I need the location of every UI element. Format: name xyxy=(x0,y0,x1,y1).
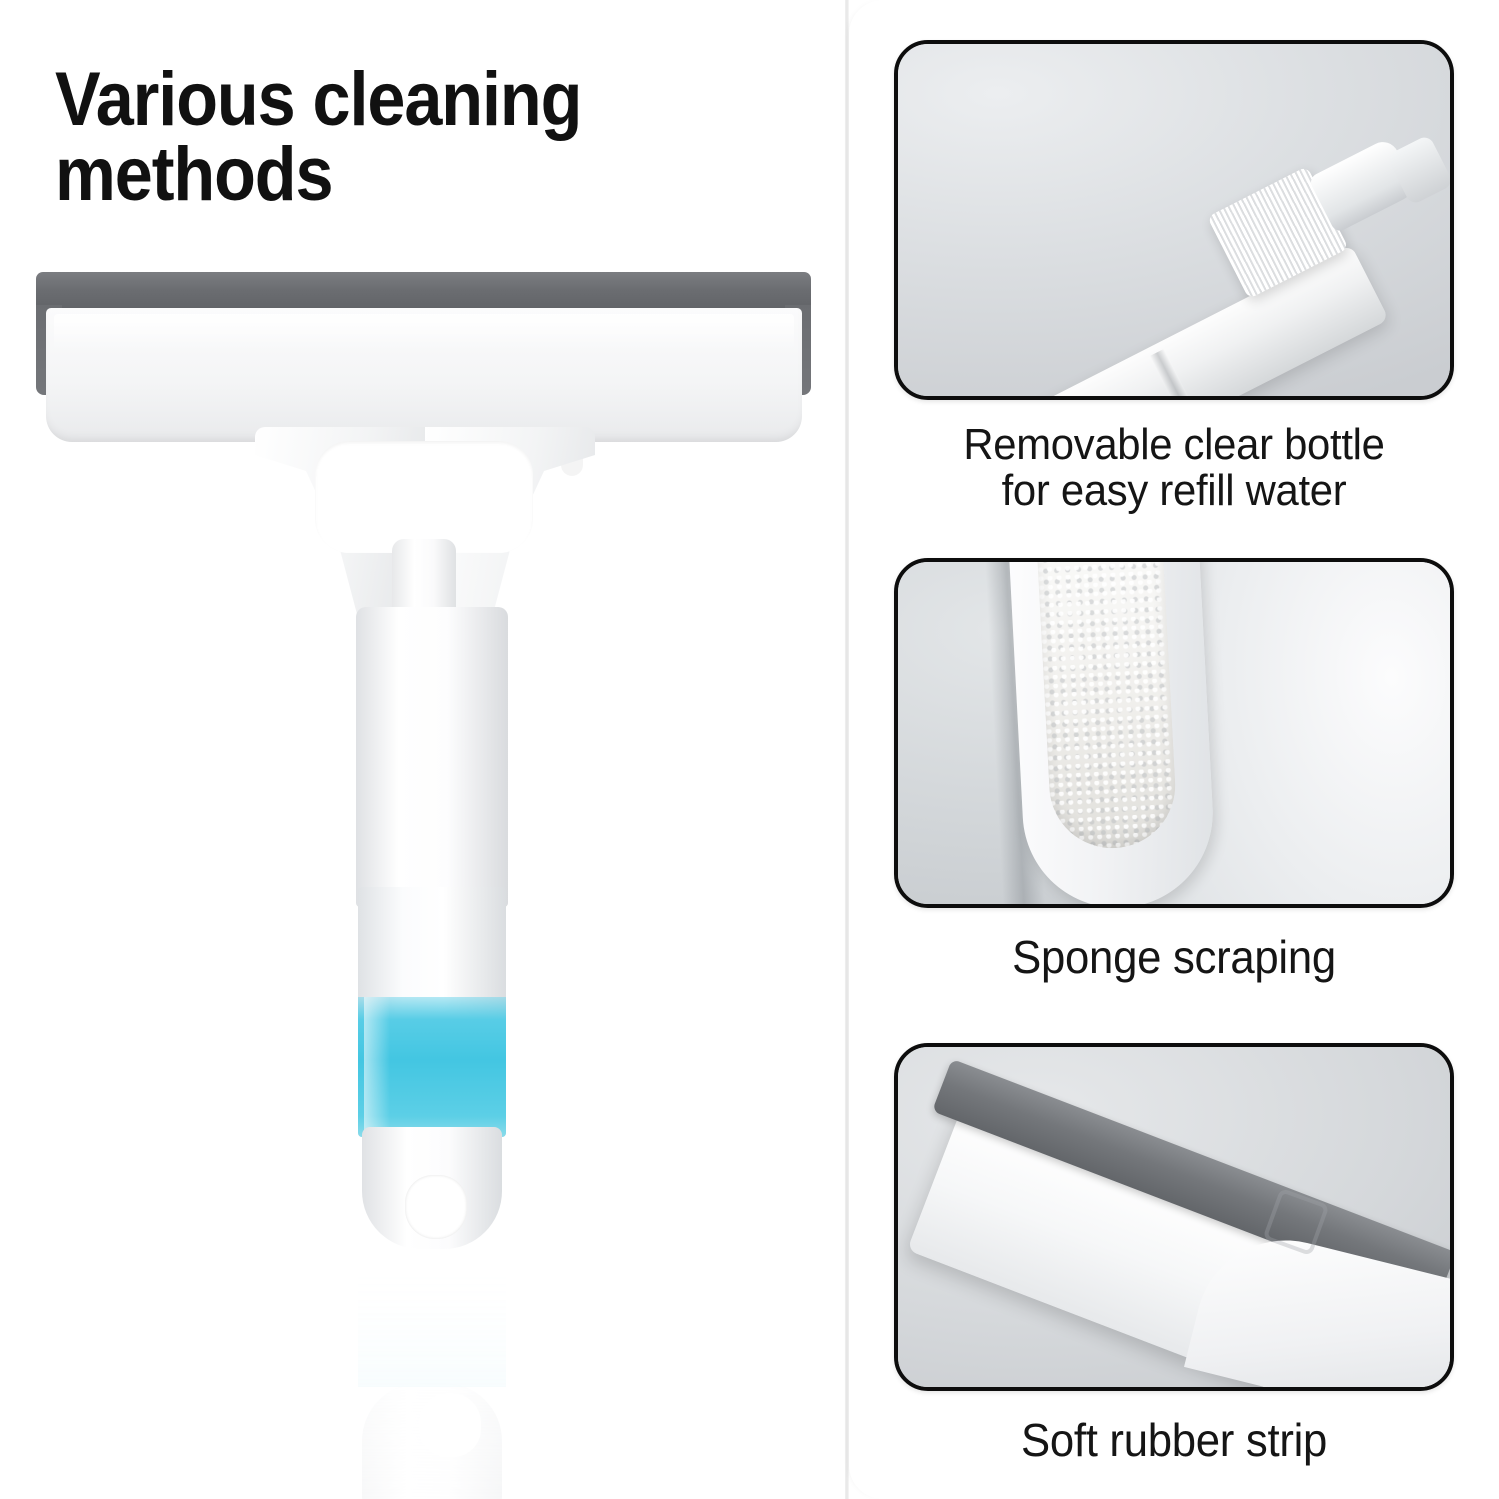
clear-bottle-section xyxy=(358,887,506,1137)
sponge-holder-icon xyxy=(1008,558,1217,908)
feature-photo-frame xyxy=(894,558,1454,908)
reflection-bottle xyxy=(358,1247,506,1387)
infographic-canvas: Various cleaning methods xyxy=(0,0,1499,1499)
yoke-cutout xyxy=(315,441,533,553)
feature-photo-frame xyxy=(894,1043,1454,1391)
feature-caption: Removable clear bottle for easy refill w… xyxy=(889,422,1459,514)
product-reflection xyxy=(348,1240,516,1499)
blue-liquid xyxy=(358,997,506,1137)
hanging-hole xyxy=(405,1175,467,1239)
feature-soft-rubber-strip: Soft rubber strip xyxy=(849,1043,1499,1465)
sponge-pad-icon xyxy=(1036,558,1179,851)
feature-caption: Soft rubber strip xyxy=(889,1417,1459,1465)
squeegee-yoke xyxy=(255,427,595,627)
product-illustration xyxy=(0,255,848,1495)
bottle-ring xyxy=(1150,349,1202,400)
left-hero-section: Various cleaning methods xyxy=(0,0,848,1499)
page-title: Various cleaning methods xyxy=(55,62,685,212)
feature-caption: Sponge scraping xyxy=(889,934,1459,982)
feature-sponge-scraping: Sponge scraping xyxy=(849,558,1499,982)
handle-bottom-cap xyxy=(362,1127,502,1249)
squeegee-blade-body xyxy=(46,308,802,442)
reflection-cap xyxy=(362,1383,502,1499)
features-section: Removable clear bottle for easy refill w… xyxy=(849,0,1499,1499)
handle-upper-shaft xyxy=(356,607,508,907)
product-handle xyxy=(348,607,516,1227)
feature-removable-bottle: Removable clear bottle for easy refill w… xyxy=(849,40,1499,514)
feature-photo-frame xyxy=(894,40,1454,400)
reflection-hole xyxy=(419,1393,481,1457)
